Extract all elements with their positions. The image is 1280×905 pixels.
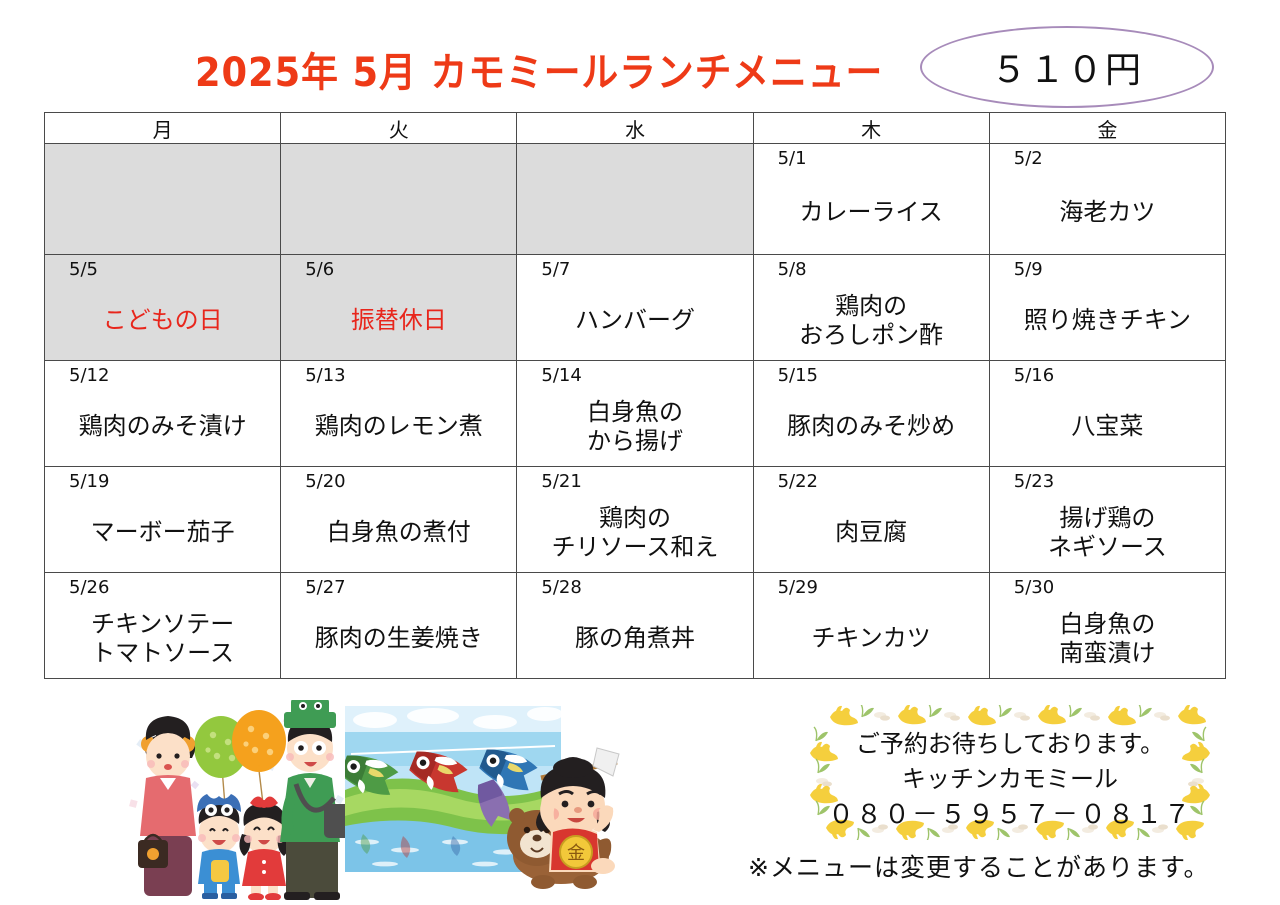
cell-date: 5/2 [990, 148, 1225, 169]
cell-date: 5/19 [45, 471, 280, 492]
menu-cell-tue-row4: 5/20白身魚の煮付 [281, 467, 517, 573]
phone-number: ０８０－５９５７－０８１７ [800, 797, 1220, 835]
dish-name: マーボー茄子 [45, 497, 280, 568]
dish-name: 鶏肉のチリソース和え [517, 497, 752, 568]
dish-name: 八宝菜 [990, 391, 1225, 462]
dish-name: 白身魚の南蛮漬け [990, 603, 1225, 674]
dish-line: チリソース和え [552, 533, 719, 561]
menu-cell-fri-row3: 5/16八宝菜 [989, 361, 1225, 467]
column-header-mon: 月 [45, 113, 281, 144]
cell-date: 5/1 [754, 148, 989, 169]
cell-date: 5/6 [281, 259, 516, 280]
table-header-row: 月 火 水 木 金 [45, 113, 1226, 144]
dish-line: 白身魚の煮付 [327, 518, 471, 546]
menu-cell-mon-row3: 5/12鶏肉のみそ漬け [45, 361, 281, 467]
dish-name: 豚肉の生姜焼き [281, 603, 516, 674]
menu-cell-fri-row2: 5/9照り焼きチキン [989, 255, 1225, 361]
dish-name: ハンバーグ [517, 285, 752, 356]
koinobori-carp-streamers-and-kintaro-illustration: 金 [345, 706, 625, 891]
cell-date: 5/30 [990, 577, 1225, 598]
menu-cell-wed-row5: 5/28豚の角煮丼 [517, 573, 753, 679]
dish-line: カレーライス [800, 198, 943, 226]
dish-line: 白身魚の [587, 398, 683, 426]
menu-cell-wed-row3: 5/14白身魚のから揚げ [517, 361, 753, 467]
dish-line: 照り焼きチキン [1024, 306, 1191, 334]
cell-date: 5/21 [517, 471, 752, 492]
dish-name: 揚げ鶏のネギソース [990, 497, 1225, 568]
menu-cell-thu-row5: 5/29チキンカツ [753, 573, 989, 679]
dish-line: 鶏肉の [599, 504, 671, 532]
menu-cell-fri-row5: 5/30白身魚の南蛮漬け [989, 573, 1225, 679]
price-badge: ５１０円 [920, 26, 1214, 108]
menu-calendar-table: 月 火 水 木 金 5/1カレーライス5/2海老カツ5/5こどもの日5/6振替休… [44, 112, 1226, 679]
menu-cell-mon-row4: 5/19マーボー茄子 [45, 467, 281, 573]
page-header: 2025年 5月 カモミールランチメニュー ５１０円 [0, 0, 1280, 108]
cell-date: 5/26 [45, 577, 280, 598]
table-row: 5/1カレーライス5/2海老カツ [45, 144, 1226, 255]
dish-name: 海老カツ [990, 174, 1225, 250]
cell-date: 5/23 [990, 471, 1225, 492]
column-header-fri: 金 [989, 113, 1225, 144]
menu-cell-thu-row4: 5/22肉豆腐 [753, 467, 989, 573]
cell-date: 5/14 [517, 365, 752, 386]
dish-line: チキンカツ [812, 624, 931, 652]
dish-line: 揚げ鶏の [1059, 504, 1155, 532]
dish-line: 豚肉のみそ炒め [787, 412, 955, 440]
holiday-label: こどもの日 [45, 285, 280, 356]
svg-text:金: 金 [567, 843, 585, 864]
dish-line: 振替休日 [351, 306, 447, 334]
cell-date: 5/13 [281, 365, 516, 386]
dish-line: 鶏肉のレモン煮 [315, 412, 483, 440]
dish-name: 鶏肉のおろしポン酢 [754, 285, 989, 356]
dish-line: トマトソース [91, 639, 234, 667]
cell-date: 5/16 [990, 365, 1225, 386]
menu-cell-tue-row2: 5/6振替休日 [281, 255, 517, 361]
cell-date: 5/28 [517, 577, 752, 598]
table-row: 5/26チキンソテートマトソース5/27豚肉の生姜焼き5/28豚の角煮丼5/29… [45, 573, 1226, 679]
dish-line: 八宝菜 [1071, 412, 1143, 440]
dish-line: 南蛮漬け [1059, 639, 1155, 667]
menu-change-disclaimer: ※メニューは変更することがあります。 [748, 848, 1228, 884]
dish-line: 白身魚の [1059, 610, 1155, 638]
dish-line: こどもの日 [103, 306, 223, 334]
dish-line: おろしポン酢 [799, 321, 943, 349]
menu-cell-thu-row1: 5/1カレーライス [753, 144, 989, 255]
table-row: 5/19マーボー茄子5/20白身魚の煮付5/21鶏肉のチリソース和え5/22肉豆… [45, 467, 1226, 573]
menu-cell-tue-row3: 5/13鶏肉のレモン煮 [281, 361, 517, 467]
menu-cell-fri-row1: 5/2海老カツ [989, 144, 1225, 255]
table-body: 5/1カレーライス5/2海老カツ5/5こどもの日5/6振替休日5/7ハンバーグ5… [45, 144, 1226, 679]
notice-line-2: キッチンカモミール [800, 762, 1220, 797]
menu-cell-wed-row2: 5/7ハンバーグ [517, 255, 753, 361]
cell-date: 5/15 [754, 365, 989, 386]
column-header-wed: 水 [517, 113, 753, 144]
dish-name: 豚の角煮丼 [517, 603, 752, 674]
dish-line: ハンバーグ [575, 306, 695, 334]
reservation-notice-frame: ご予約お待ちしております。 キッチンカモミール ０８０－５９５７－０８１７ [800, 705, 1220, 840]
dish-line: チキンソテー [91, 610, 234, 638]
menu-cell-wed-row1 [517, 144, 753, 255]
dish-name: 白身魚のから揚げ [517, 391, 752, 462]
dish-name: 豚肉のみそ炒め [754, 391, 989, 462]
dish-name: 白身魚の煮付 [281, 497, 516, 568]
cell-date: 5/8 [754, 259, 989, 280]
column-header-thu: 木 [753, 113, 989, 144]
dish-name: カレーライス [754, 174, 989, 250]
table-row: 5/12鶏肉のみそ漬け5/13鶏肉のレモン煮5/14白身魚のから揚げ5/15豚肉… [45, 361, 1226, 467]
price-label: ５１０円 [991, 41, 1143, 93]
menu-cell-wed-row4: 5/21鶏肉のチリソース和え [517, 467, 753, 573]
dish-line: 豚肉の生姜焼き [315, 624, 483, 652]
dish-name: 鶏肉のレモン煮 [281, 391, 516, 462]
cell-date: 5/7 [517, 259, 752, 280]
dish-line: 海老カツ [1059, 198, 1155, 226]
dish-name: チキンソテートマトソース [45, 603, 280, 674]
notice-line-1: ご予約お待ちしております。 [800, 727, 1220, 762]
menu-cell-mon-row1 [45, 144, 281, 255]
dish-line: ネギソース [1048, 533, 1167, 561]
reservation-notice-text: ご予約お待ちしております。 キッチンカモミール ０８０－５９５７－０８１７ [800, 727, 1220, 834]
menu-cell-fri-row4: 5/23揚げ鶏のネギソース [989, 467, 1225, 573]
dish-name: チキンカツ [754, 603, 989, 674]
menu-cell-thu-row3: 5/15豚肉のみそ炒め [753, 361, 989, 467]
dish-line: 鶏肉のみそ漬け [79, 412, 247, 440]
table-row: 5/5こどもの日5/6振替休日5/7ハンバーグ5/8鶏肉のおろしポン酢5/9照り… [45, 255, 1226, 361]
cell-date: 5/27 [281, 577, 516, 598]
menu-cell-thu-row2: 5/8鶏肉のおろしポン酢 [753, 255, 989, 361]
menu-cell-mon-row2: 5/5こどもの日 [45, 255, 281, 361]
dish-line: 豚の角煮丼 [575, 624, 695, 652]
cell-date: 5/9 [990, 259, 1225, 280]
menu-cell-tue-row5: 5/27豚肉の生姜焼き [281, 573, 517, 679]
cell-date: 5/22 [754, 471, 989, 492]
menu-cell-mon-row5: 5/26チキンソテートマトソース [45, 573, 281, 679]
dish-name: 肉豆腐 [754, 497, 989, 568]
menu-cell-tue-row1 [281, 144, 517, 255]
cell-date: 5/5 [45, 259, 280, 280]
cell-date: 5/29 [754, 577, 989, 598]
cell-date: 5/20 [281, 471, 516, 492]
dish-line: 肉豆腐 [835, 518, 907, 546]
dish-line: から揚げ [587, 427, 683, 455]
dish-name: 鶏肉のみそ漬け [45, 391, 280, 462]
dish-line: マーボー茄子 [91, 518, 235, 546]
holiday-label: 振替休日 [281, 285, 516, 356]
dish-name: 照り焼きチキン [990, 285, 1225, 356]
cell-date: 5/12 [45, 365, 280, 386]
family-with-balloons-illustration [118, 700, 348, 900]
dish-line: 鶏肉の [835, 292, 907, 320]
page-title: 2025年 5月 カモミールランチメニュー [195, 40, 883, 98]
column-header-tue: 火 [281, 113, 517, 144]
